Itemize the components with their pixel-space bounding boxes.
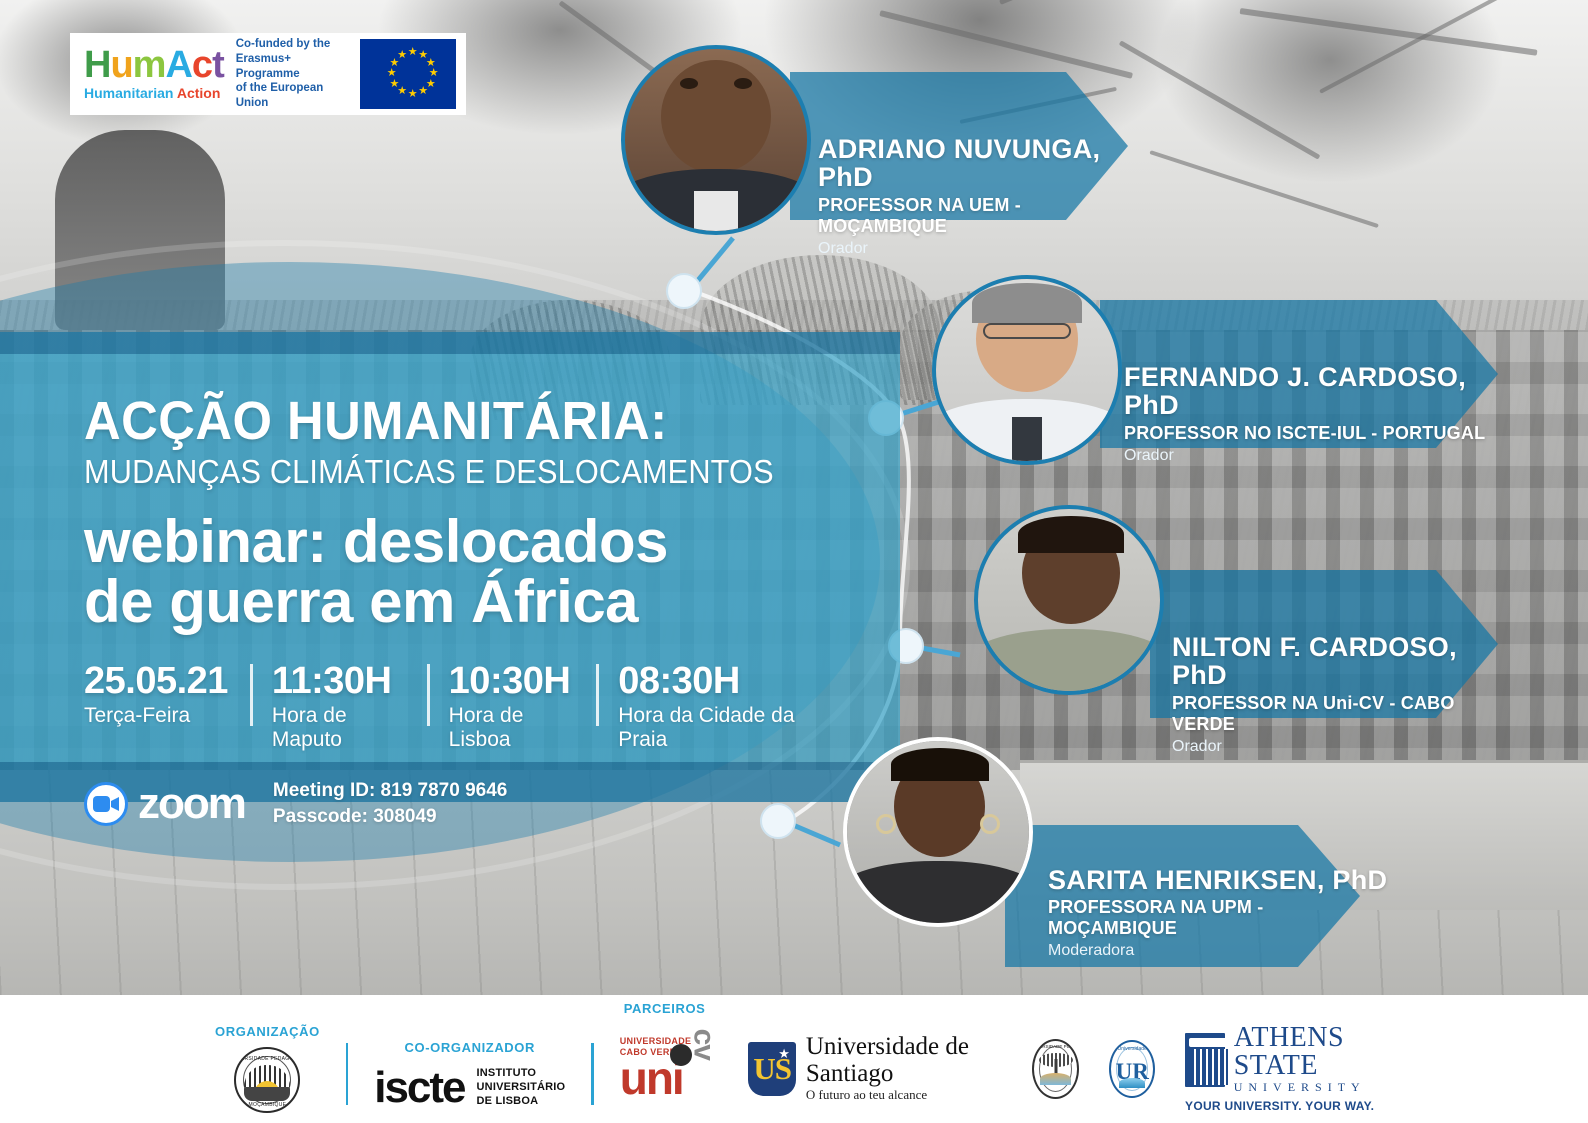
humact-letter-m: m (133, 44, 166, 86)
speaker-kind-1: Orador (818, 240, 1148, 258)
footer-logos-bar: ORGANIZAÇÃO UNIVERSIDADE PEDAGÓGICA MOÇA… (0, 995, 1588, 1123)
zoom-meeting-id: Meeting ID: 819 7870 9646 (273, 778, 507, 804)
speaker-role-4: PROFESSORA NA UPM - MOÇAMBIQUE (1048, 897, 1388, 939)
humact-letter-c: c (192, 44, 212, 86)
eu-star-icon: ★ (408, 47, 418, 58)
pungue-seal-logo: UNIVERSIDADE PÚNGUÈ (1032, 1039, 1079, 1099)
page-subtitle: MUDANÇAS CLIMÁTICAS E DESLOCAMENTOS (84, 455, 791, 490)
speaker-role-1: PROFESSOR NA UEM - MOÇAMBIQUE (818, 195, 1148, 237)
universidade-santiago-logo: US ★ Universidade de Santiago O futuro a… (748, 1034, 1002, 1103)
eu-star-icon: ★ (397, 50, 407, 61)
humact-tagline: Humanitarian Action (84, 85, 224, 101)
humact-letter-t: t (212, 44, 224, 86)
schedule-lisboa-label: Hora de Lisboa (449, 704, 575, 752)
athens-state-logo: ATHENS STATE UNIVERSITY YOUR UNIVERSITY.… (1185, 1024, 1388, 1113)
humact-letters: HumAct (84, 47, 224, 83)
cofund-line-2: Erasmus+ Programme (236, 52, 348, 82)
speaker-text-1: ADRIANO NUVUNGA, PhD PROFESSOR NA UEM - … (818, 135, 1148, 258)
schedule-praia-label: Hora da Cidade da Praia (618, 704, 822, 752)
footer-group-parceiros: PARCEIROS UNIVERSIDADE CABO VERDE uni cv… (620, 1001, 1388, 1113)
us-tagline-text: O futuro ao teu alcance (806, 1087, 1002, 1103)
footer-divider-2 (591, 1043, 593, 1105)
upm-seal-top-text: UNIVERSIDADE PEDAGÓGICA (234, 1056, 300, 1062)
pungue-seal-text: UNIVERSIDADE PÚNGUÈ (1032, 1044, 1079, 1049)
footer-heading-parceiros: PARCEIROS (624, 1001, 706, 1016)
cofund-line-3: of the European Union (236, 81, 348, 111)
eu-star-icon: ★ (418, 86, 428, 97)
upm-seal-logo: UNIVERSIDADE PEDAGÓGICA MOÇAMBIQUE (234, 1047, 300, 1113)
cofund-line-1: Co-funded by the (236, 37, 348, 52)
speaker-name-2: FERNANDO J. CARDOSO, PhD (1124, 363, 1504, 420)
schedule-item-praia: 08:30H Hora da Cidade da Praia (596, 662, 844, 752)
erasmus-cofund-text: Co-funded by the Erasmus+ Programme of t… (236, 37, 348, 112)
zoom-row: zoom Meeting ID: 819 7870 9646 Passcode:… (84, 778, 844, 829)
footer-heading-co-organizador: CO-ORGANIZADOR (405, 1040, 535, 1055)
upm-seal-bottom-text: MOÇAMBIQUE (249, 1102, 287, 1108)
speaker-role-3: PROFESSOR NA Uni-CV - CABO VERDE (1172, 693, 1512, 735)
speaker-name-4: SARITA HENRIKSEN, PhD (1048, 866, 1388, 894)
footer-wrap: ORGANIZAÇÃO UNIVERSIDADE PEDAGÓGICA MOÇA… (0, 1001, 1588, 1123)
unicv-cv-text: cv (686, 1029, 720, 1060)
footer-logos-parceiros: UNIVERSIDADE CABO VERDE uni cv US ★ (620, 1024, 1388, 1113)
schedule-row: 25.05.21 Terça-Feira 11:30H Hora de Mapu… (84, 662, 844, 752)
athens-row: ATHENS STATE UNIVERSITY (1185, 1024, 1388, 1095)
webinar-title-line-2: de guerra em África (84, 572, 844, 632)
athens-name-text: ATHENS STATE (1234, 1024, 1388, 1080)
speaker-text-3: NILTON F. CARDOSO, PhD PROFESSOR NA Uni-… (1172, 633, 1512, 756)
speaker-role-2: PROFESSOR NO ISCTE-IUL - PORTUGAL (1124, 423, 1504, 444)
speaker-text-4: SARITA HENRIKSEN, PhD PROFESSORA NA UPM … (1048, 866, 1388, 960)
footer-group-organizacao: ORGANIZAÇÃO UNIVERSIDADE PEDAGÓGICA MOÇA… (215, 1024, 320, 1113)
rovuma-seal-logo: Universidade UR (1109, 1040, 1155, 1098)
info-panel: ACÇÃO HUMANITÁRIA: MUDANÇAS CLIMÁTICAS E… (0, 332, 900, 802)
zoom-meeting-details: Meeting ID: 819 7870 9646 Passcode: 3080… (273, 778, 507, 829)
star-icon: ★ (778, 1046, 790, 1062)
footer-divider-1 (346, 1043, 348, 1105)
humact-tagline-action: Action (177, 85, 221, 101)
eu-star-icon: ★ (387, 68, 397, 79)
speaker-kind-2: Orador (1124, 447, 1504, 465)
speaker-avatar-4 (843, 737, 1033, 927)
iscte-logo: iscte INSTITUTO UNIVERSITÁRIO DE LISBOA (374, 1063, 565, 1113)
iscte-subtext: INSTITUTO UNIVERSITÁRIO DE LISBOA (477, 1067, 566, 1108)
humact-tagline-humanitarian: Humanitarian (84, 85, 177, 101)
athens-university-text: UNIVERSITY (1234, 1080, 1388, 1095)
athens-tagline-text: YOUR UNIVERSITY. YOUR WAY. (1185, 1099, 1388, 1113)
humact-letter-a: A (165, 44, 191, 86)
speaker-avatar-2 (932, 275, 1122, 465)
video-camera-icon (93, 796, 119, 812)
humact-letter-h: H (84, 44, 110, 86)
webinar-title: webinar: deslocados de guerra em África (84, 512, 844, 632)
webinar-title-line-1: webinar: deslocados (84, 512, 844, 572)
zoom-camera-icon (84, 782, 128, 826)
webinar-poster: HumAct Humanitarian Action Co-funded by … (0, 0, 1588, 1123)
schedule-maputo-time: 11:30H (272, 662, 405, 700)
humact-letter-u: u (110, 44, 132, 86)
speaker-name-1: ADRIANO NUVUNGA, PhD (818, 135, 1148, 192)
athens-text-block: ATHENS STATE UNIVERSITY (1234, 1024, 1388, 1095)
eu-star-icon: ★ (408, 89, 418, 100)
iscte-wordmark: iscte (374, 1063, 464, 1113)
schedule-item-date: 25.05.21 Terça-Feira (84, 662, 250, 728)
us-shield-icon: US ★ (748, 1042, 795, 1096)
schedule-item-maputo: 11:30H Hora de Maputo (250, 662, 427, 752)
footer-group-co-organizador: CO-ORGANIZADOR iscte INSTITUTO UNIVERSIT… (374, 1040, 565, 1113)
zoom-passcode: Passcode: 308049 (273, 804, 507, 830)
speaker-kind-4: Moderadora (1048, 942, 1388, 960)
column-icon (1185, 1033, 1225, 1087)
eu-flag-icon: ★★★★★★★★★★★★ (360, 39, 456, 109)
iscte-sub-line-2: UNIVERSITÁRIO (477, 1081, 566, 1095)
speaker-kind-3: Orador (1172, 738, 1512, 756)
info-panel-content: ACÇÃO HUMANITÁRIA: MUDANÇAS CLIMÁTICAS E… (84, 332, 844, 829)
iscte-sub-line-3: DE LISBOA (477, 1095, 566, 1109)
unicv-logo: UNIVERSIDADE CABO VERDE uni cv (620, 1036, 719, 1100)
schedule-lisboa-time: 10:30H (449, 662, 575, 700)
speaker-avatar-1 (621, 45, 811, 235)
schedule-praia-time: 08:30H (618, 662, 822, 700)
schedule-item-lisboa: 10:30H Hora de Lisboa (427, 662, 597, 752)
schedule-date-value: 25.05.21 (84, 662, 228, 700)
iscte-sub-line-1: INSTITUTO (477, 1067, 566, 1081)
eu-star-icon: ★ (390, 79, 400, 90)
schedule-maputo-label: Hora de Maputo (272, 704, 405, 752)
zoom-logo: zoom (84, 779, 245, 829)
speaker-avatar-3 (974, 505, 1164, 695)
footer-logos-organizacao: UNIVERSIDADE PEDAGÓGICA MOÇAMBIQUE (234, 1047, 300, 1113)
us-text-block: Universidade de Santiago O futuro ao teu… (806, 1034, 1002, 1103)
unicv-wordmark: uni (620, 1057, 719, 1101)
schedule-date-label: Terça-Feira (84, 704, 228, 728)
page-title: ACÇÃO HUMANITÁRIA: (84, 394, 798, 449)
speaker-text-2: FERNANDO J. CARDOSO, PhD PROFESSOR NO IS… (1124, 363, 1504, 465)
speaker-name-3: NILTON F. CARDOSO, PhD (1172, 633, 1512, 690)
rovuma-seal-text: Universidade (1118, 1046, 1147, 1052)
footer-heading-organizacao: ORGANIZAÇÃO (215, 1024, 320, 1039)
us-name-text: Universidade de Santiago (806, 1034, 1002, 1087)
zoom-brand-text: zoom (138, 779, 245, 829)
humact-wordmark: HumAct Humanitarian Action (84, 47, 224, 101)
humact-logo: HumAct Humanitarian Action Co-funded by … (70, 33, 466, 115)
